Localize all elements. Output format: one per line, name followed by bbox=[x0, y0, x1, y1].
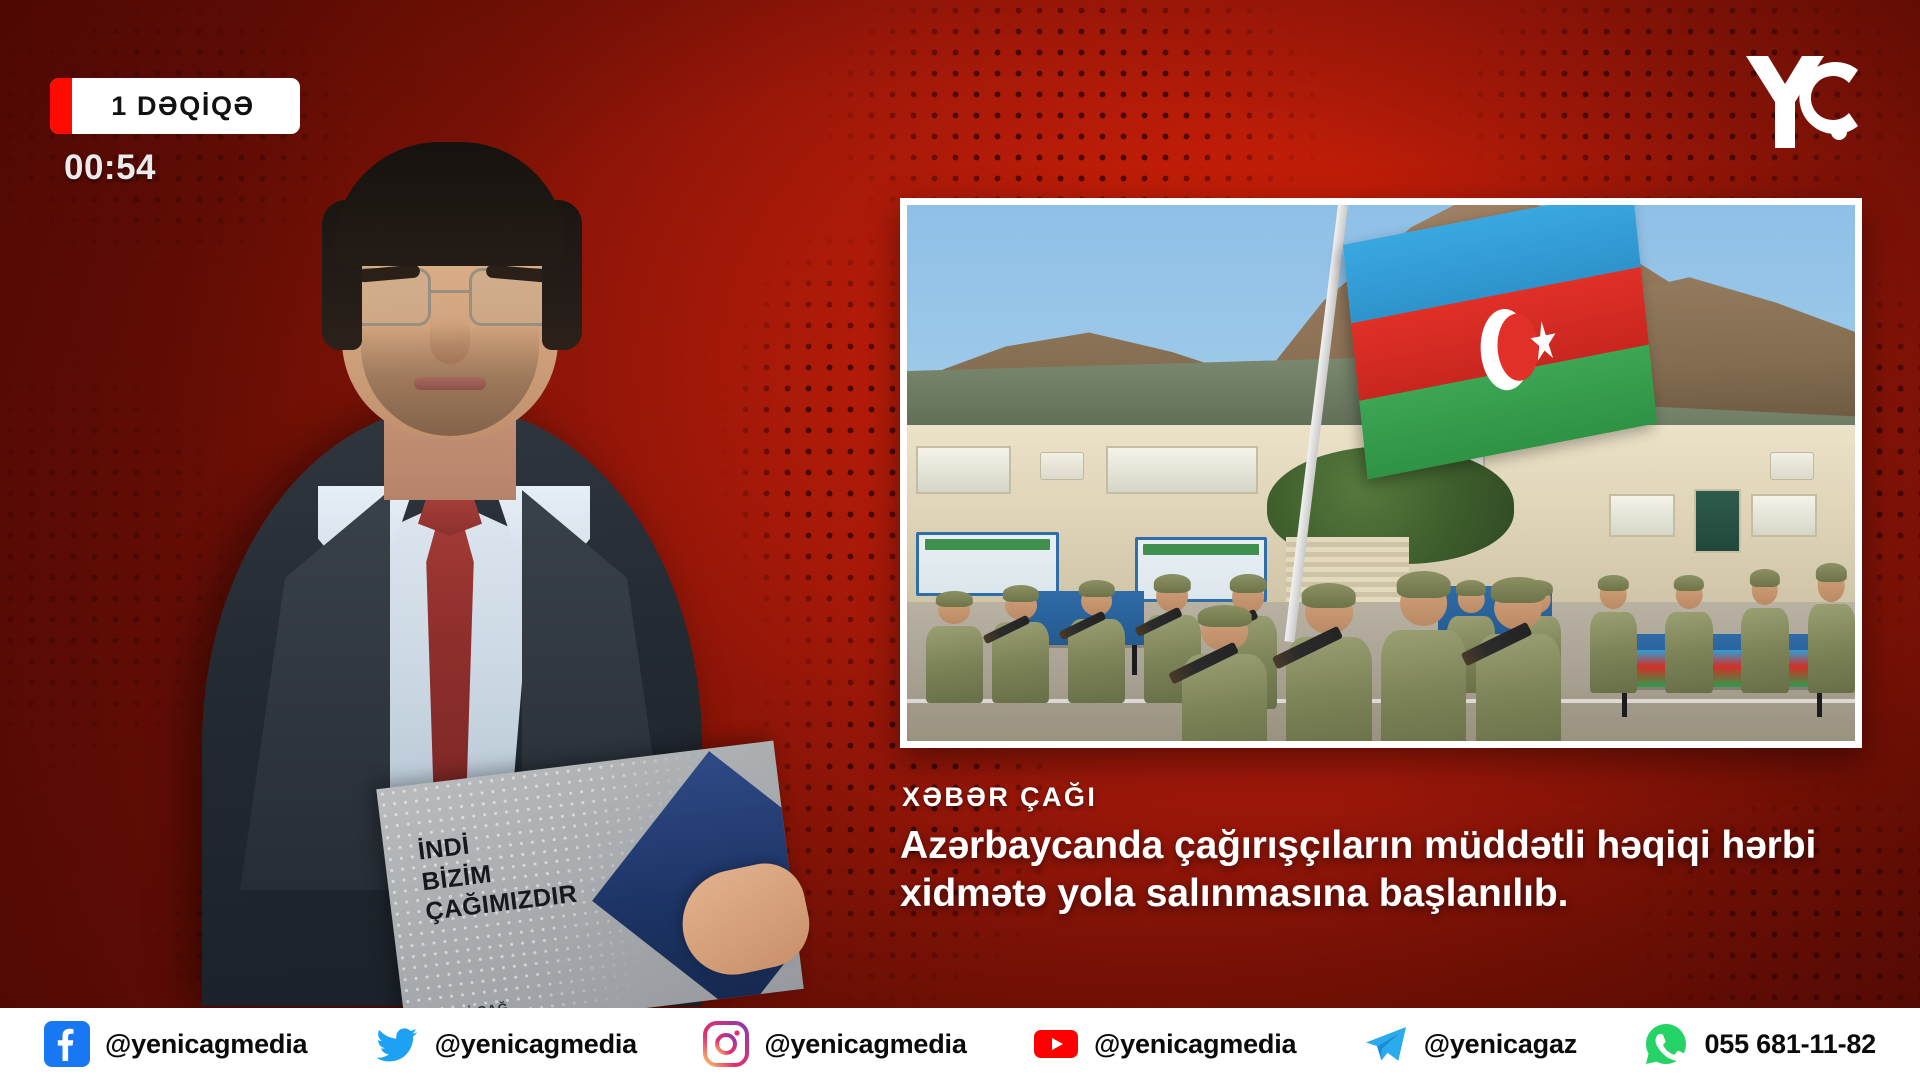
photo-window bbox=[1106, 446, 1258, 494]
photo-marching-soldier bbox=[1182, 612, 1267, 741]
photo-soldier bbox=[1068, 586, 1125, 704]
youtube-icon bbox=[1033, 1021, 1079, 1067]
whatsapp-handle: 055 681-11-82 bbox=[1704, 1029, 1876, 1060]
news-presenter: İNDİ BİZİM ÇAĞIMIZDIR YENİ ÇAĞ bbox=[90, 66, 810, 1006]
social-item-facebook[interactable]: @yenicagmedia bbox=[44, 1021, 307, 1067]
facebook-icon bbox=[44, 1021, 90, 1067]
duration-badge-label: 1 DƏQİQƏ bbox=[95, 91, 255, 122]
eyeglass-bridge bbox=[431, 290, 471, 293]
whatsapp-icon bbox=[1643, 1021, 1689, 1067]
folder-slogan: İNDİ BİZİM ÇAĞIMIZDIR bbox=[416, 818, 579, 927]
photo-table-legs bbox=[1622, 687, 1822, 717]
broadcast-screen: 1 DƏQİQƏ 00:54 bbox=[0, 0, 1920, 1080]
photo-bandsman bbox=[1590, 580, 1637, 693]
photo-ac-unit-icon bbox=[1040, 452, 1084, 480]
telegram-icon bbox=[1363, 1021, 1409, 1067]
photo-bandsman bbox=[1741, 575, 1788, 693]
facebook-handle: @yenicagmedia bbox=[105, 1029, 307, 1060]
photo-bandsman bbox=[1665, 580, 1712, 693]
social-item-whatsapp[interactable]: 055 681-11-82 bbox=[1643, 1021, 1876, 1067]
photo-marching-soldier bbox=[1286, 591, 1371, 741]
instagram-icon bbox=[703, 1021, 749, 1067]
news-photo bbox=[907, 205, 1855, 741]
social-media-bar: @yenicagmedia @yenicagmedia bbox=[0, 1008, 1920, 1080]
photo-table-flag-cloth bbox=[1618, 650, 1827, 688]
photo-info-board-header bbox=[925, 539, 1050, 549]
twitter-icon bbox=[374, 1021, 420, 1067]
photo-window bbox=[1751, 494, 1817, 537]
photo-soldier bbox=[992, 591, 1049, 704]
youtube-handle: @yenicagmedia bbox=[1094, 1029, 1296, 1060]
photo-soldier bbox=[926, 596, 983, 703]
photo-marching-soldier bbox=[1476, 586, 1561, 741]
photo-ac-unit-icon bbox=[1770, 452, 1814, 480]
presenter-hair bbox=[334, 142, 566, 266]
presenter-mouth bbox=[414, 377, 486, 390]
story-kicker: XƏBƏR ÇAĞI bbox=[902, 782, 1097, 813]
photo-window bbox=[1609, 494, 1675, 537]
social-item-instagram[interactable]: @yenicagmedia bbox=[703, 1021, 966, 1067]
photo-door bbox=[1694, 489, 1741, 553]
social-item-twitter[interactable]: @yenicagmedia bbox=[374, 1021, 637, 1067]
photo-flag-bearer bbox=[1381, 580, 1466, 741]
telegram-handle: @yenicagaz bbox=[1424, 1029, 1577, 1060]
news-photo-frame bbox=[900, 198, 1862, 748]
photo-window bbox=[916, 446, 1011, 494]
social-item-telegram[interactable]: @yenicagaz bbox=[1363, 1021, 1577, 1067]
story-headline: Azərbaycanda çağırışçıların müddətli həq… bbox=[900, 822, 1900, 918]
photo-info-board-header bbox=[1143, 544, 1260, 554]
social-item-youtube[interactable]: @yenicagmedia bbox=[1033, 1021, 1296, 1067]
photo-info-board bbox=[916, 532, 1058, 596]
yc-channel-logo-icon bbox=[1740, 48, 1868, 148]
photo-bandsman bbox=[1808, 569, 1855, 692]
instagram-handle: @yenicagmedia bbox=[764, 1029, 966, 1060]
twitter-handle: @yenicagmedia bbox=[435, 1029, 637, 1060]
